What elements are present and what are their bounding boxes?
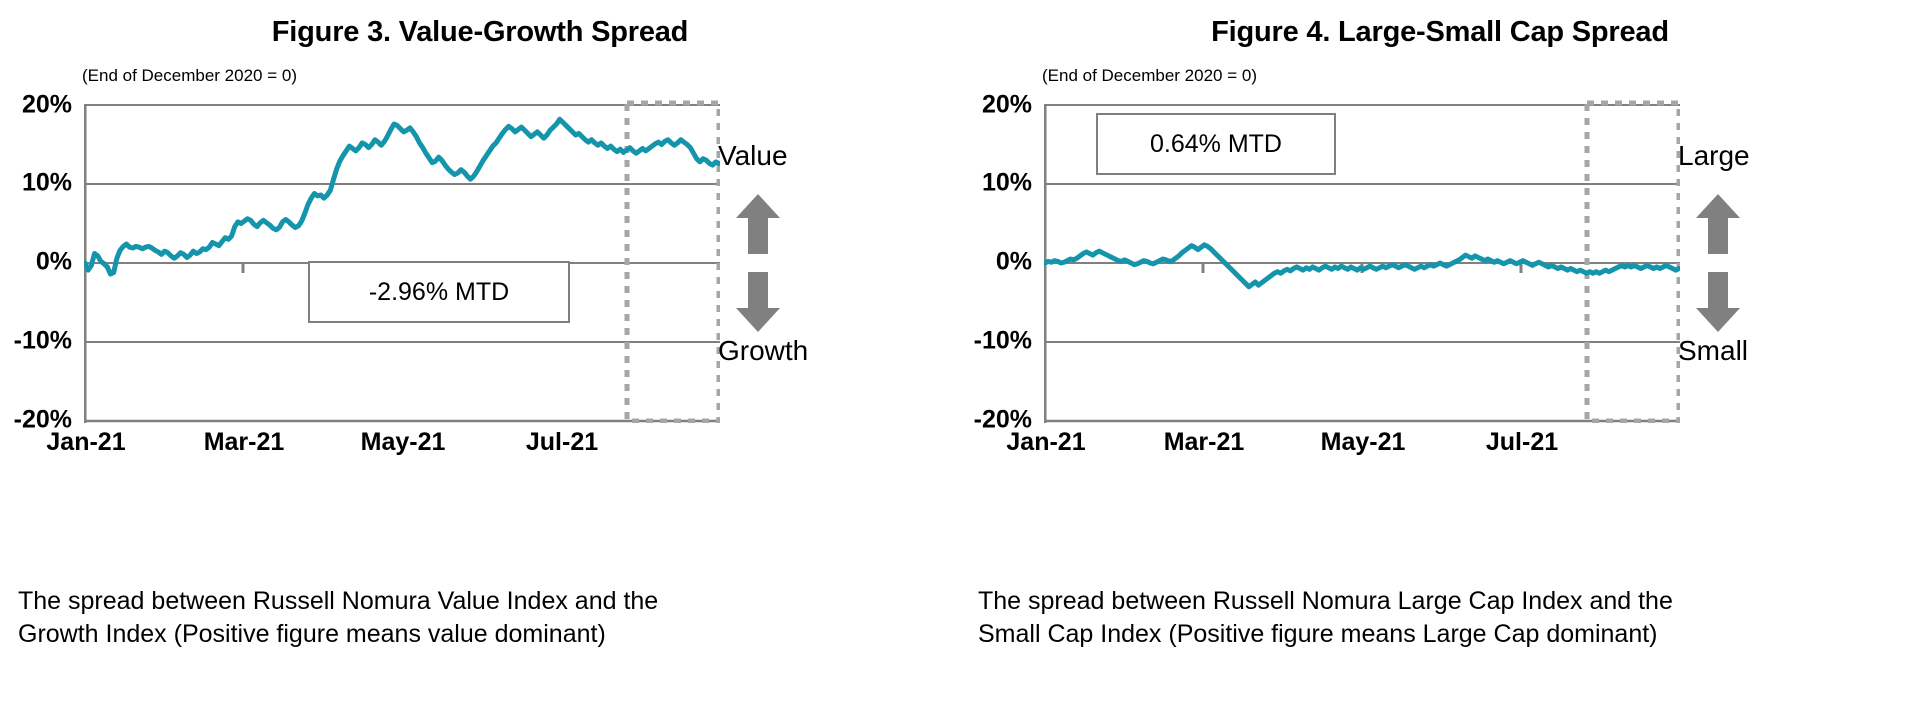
figure-3-direction-annotation: Value Growth — [718, 130, 918, 390]
x-tick-jan21: Jan-21 — [1006, 428, 1085, 457]
large-small-cap-spread-line — [1045, 245, 1679, 287]
y-tick-neg10: -10% — [974, 327, 1032, 356]
direction-label-large: Large — [1678, 140, 1878, 172]
figure-3-caption-line-2: Growth Index (Positive figure means valu… — [18, 618, 918, 651]
figure-4-y-axis-labels: 20% 10% 0% -10% -20% — [960, 95, 1038, 435]
x-tick-jul21: Jul-21 — [1486, 428, 1558, 457]
y-tick-neg10: -10% — [14, 327, 72, 356]
figure-4-base-note: (End of December 2020 = 0) — [1042, 66, 1257, 86]
x-tick-jan21: Jan-21 — [46, 428, 125, 457]
arrow-down-icon — [735, 270, 781, 334]
figure-3-caption: The spread between Russell Nomura Value … — [18, 585, 918, 651]
figure-4-caption: The spread between Russell Nomura Large … — [978, 585, 1878, 651]
y-tick-0: 0% — [36, 248, 72, 277]
figure-panel-left: Figure 3. Value-Growth Spread (End of De… — [0, 0, 960, 701]
value-growth-spread-line — [85, 119, 719, 274]
arrow-up-icon — [735, 192, 781, 256]
y-tick-0: 0% — [996, 248, 1032, 277]
figure-3-chart-svg — [84, 95, 720, 423]
direction-label-value: Value — [718, 140, 918, 172]
figure-panel-right: Figure 4. Large-Small Cap Spread (End of… — [960, 0, 1920, 701]
direction-label-small: Small — [1678, 335, 1878, 367]
figures-page: Figure 3. Value-Growth Spread (End of De… — [0, 0, 1920, 701]
figure-3-plot-area: -2.96% MTD — [84, 95, 720, 423]
figure-3-base-note: (End of December 2020 = 0) — [82, 66, 297, 86]
figure-3-y-axis-labels: 20% 10% 0% -10% -20% — [0, 95, 78, 435]
page-title-figure-3: Figure 3. Value-Growth Spread — [0, 16, 960, 49]
figure-4-caption-line-1: The spread between Russell Nomura Large … — [978, 585, 1878, 618]
arrow-up-icon — [1695, 192, 1741, 256]
x-tick-mar21: Mar-21 — [204, 428, 285, 457]
x-tick-jul21: Jul-21 — [526, 428, 598, 457]
figure-4-direction-annotation: Large Small — [1678, 130, 1878, 390]
direction-label-growth: Growth — [718, 335, 918, 367]
figure-4-mtd-label: 0.64% MTD — [1150, 130, 1282, 159]
arrow-down-icon — [1695, 270, 1741, 334]
figure-3-caption-line-1: The spread between Russell Nomura Value … — [18, 585, 918, 618]
figure-4-caption-line-2: Small Cap Index (Positive figure means L… — [978, 618, 1878, 651]
page-title-figure-4: Figure 4. Large-Small Cap Spread — [960, 16, 1920, 49]
figure-4-x-axis-labels: Jan-21 Mar-21 May-21 Jul-21 — [1044, 428, 1680, 468]
y-tick-20: 20% — [22, 91, 72, 120]
y-tick-10: 10% — [22, 169, 72, 198]
figure-3-x-axis-labels: Jan-21 Mar-21 May-21 Jul-21 — [84, 428, 720, 468]
figure-3-mtd-label: -2.96% MTD — [369, 278, 509, 307]
y-tick-10: 10% — [982, 169, 1032, 198]
x-tick-mar21: Mar-21 — [1164, 428, 1245, 457]
figure-4-plot-area: 0.64% MTD — [1044, 95, 1680, 423]
figure-4-mtd-callout: 0.64% MTD — [1096, 113, 1336, 175]
x-tick-may21: May-21 — [1321, 428, 1406, 457]
figure-3-mtd-callout: -2.96% MTD — [308, 261, 570, 323]
y-tick-20: 20% — [982, 91, 1032, 120]
x-tick-may21: May-21 — [361, 428, 446, 457]
